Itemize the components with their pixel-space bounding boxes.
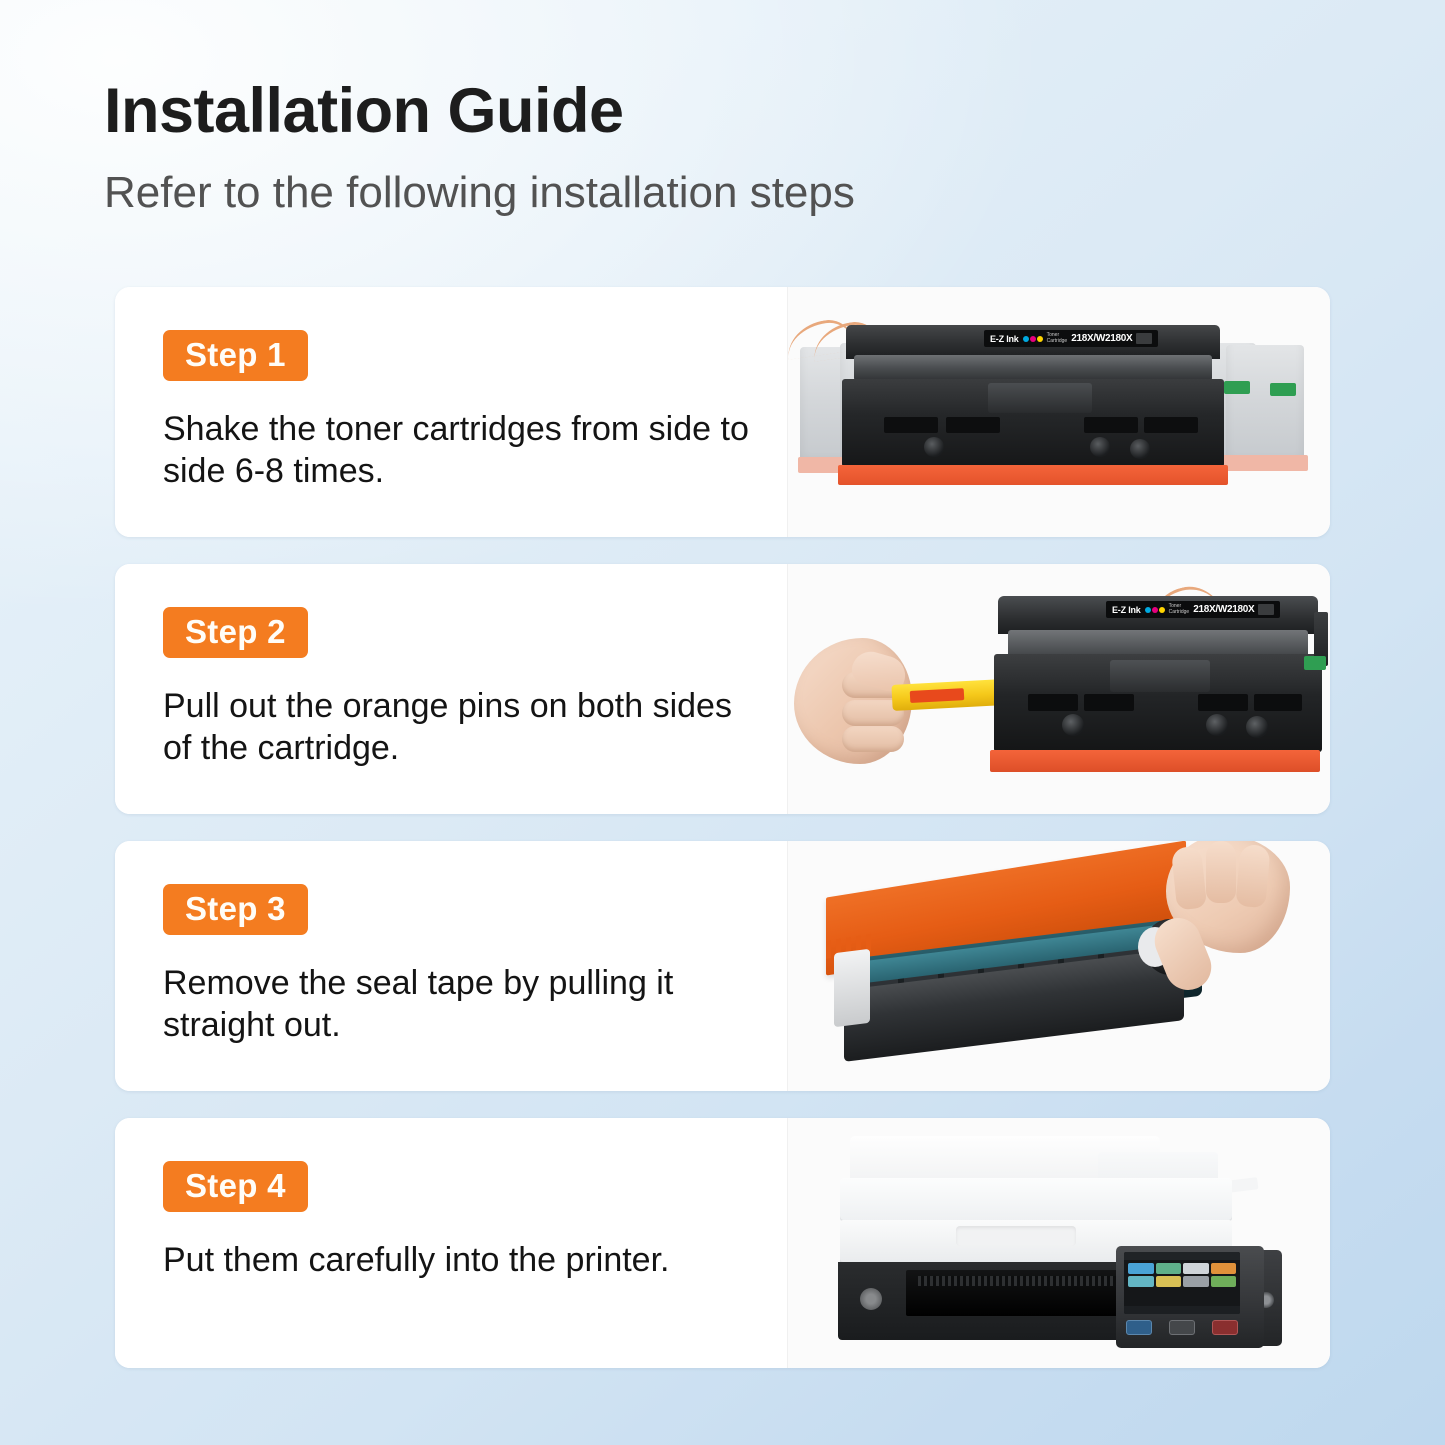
cartridge-orange-foot xyxy=(990,750,1320,772)
supplies-app-icon xyxy=(1211,1263,1237,1274)
printer-scanner-unit xyxy=(840,1178,1232,1222)
home-button-icon xyxy=(1126,1320,1152,1335)
step-4-badge: Step 4 xyxy=(163,1161,308,1212)
cartridge-slot xyxy=(1084,694,1134,711)
apps-app-icon xyxy=(1183,1276,1209,1287)
finger xyxy=(1235,844,1270,908)
finger xyxy=(842,726,904,752)
cartridge-chip-icon xyxy=(1136,333,1152,344)
printer-illustration xyxy=(798,1130,1328,1368)
printer-handle xyxy=(956,1226,1076,1246)
step-card-1: Step 1 Shake the toner cartridges from s… xyxy=(115,287,1330,537)
steps-list: Step 1 Shake the toner cartridges from s… xyxy=(115,287,1330,1368)
step-1-badge: Step 1 xyxy=(163,330,308,381)
page-header: Installation Guide Refer to the followin… xyxy=(104,78,855,217)
cartridge-brand-name: E-Z Ink xyxy=(1112,605,1141,615)
toner-cartridge-row-illustration: E-Z Ink Toner Cartridge 218X/W2180X xyxy=(787,307,1330,517)
cartridge-slot xyxy=(1084,417,1138,433)
step-2-badge: Step 2 xyxy=(163,607,308,658)
touchscreen-status-bar xyxy=(1124,1252,1240,1260)
touchscreen-app-grid xyxy=(1124,1260,1240,1290)
step-card-4: Step 4 Put them carefully into the print… xyxy=(115,1118,1330,1368)
help-button-icon xyxy=(1169,1320,1195,1335)
finger xyxy=(1206,841,1236,903)
setup-app-icon xyxy=(1156,1276,1182,1287)
cartridge-chip xyxy=(1270,383,1296,396)
cartridge-brand-label: E-Z Ink Toner Cartridge 218X/W2180X xyxy=(984,330,1158,347)
cartridge-handle-notch xyxy=(1110,660,1210,692)
page-title: Installation Guide xyxy=(104,78,855,144)
cartridge-slot xyxy=(1254,694,1302,711)
cartridge-brand-label: E-Z Ink Toner Cartridge 218X/W2180X xyxy=(1106,601,1280,618)
pull-pin-illustration: E-Z Ink Toner Cartridge 218X/W2180X xyxy=(788,582,1328,797)
step-4-text-area: Step 4 Put them carefully into the print… xyxy=(115,1118,787,1368)
cartridge-label-sub: Toner Cartridge xyxy=(1169,604,1190,615)
copy-app-icon xyxy=(1128,1263,1154,1274)
toner-cartridge: E-Z Ink Toner Cartridge 218X/W2180X xyxy=(984,590,1328,790)
step-card-2: Step 2 Pull out the orange pins on both … xyxy=(115,564,1330,814)
step-4-description: Put them carefully into the printer. xyxy=(163,1239,763,1281)
cartridge-label-sub-line2: Cartridge xyxy=(1169,609,1190,615)
cartridge-screw xyxy=(1062,714,1084,736)
cartridge-slot xyxy=(1198,694,1248,711)
cartridge-roller-bar xyxy=(854,355,1212,381)
cartridge-slot xyxy=(1144,417,1198,433)
step-2-image: E-Z Ink Toner Cartridge 218X/W2180X xyxy=(787,564,1330,814)
cartridge-label-sub-line2: Cartridge xyxy=(1047,338,1068,344)
cartridge-chip xyxy=(1304,656,1326,670)
cartridge-slot xyxy=(946,417,1000,433)
cartridge-left-end xyxy=(834,949,870,1027)
step-2-text-area: Step 2 Pull out the orange pins on both … xyxy=(115,564,787,814)
printer-touchscreen xyxy=(1124,1252,1240,1314)
cartridge-model-number: 218X/W2180X xyxy=(1071,333,1132,344)
scan-app-icon xyxy=(1183,1263,1209,1274)
touchscreen-bottom-bar xyxy=(1124,1306,1240,1314)
cmyk-dots-icon xyxy=(1145,607,1165,613)
step-4-image xyxy=(787,1118,1330,1368)
step-1-image: E-Z Ink Toner Cartridge 218X/W2180X xyxy=(787,287,1330,537)
cancel-button-icon xyxy=(1212,1320,1238,1335)
cartridge-screw xyxy=(924,437,944,457)
cartridge-slot xyxy=(1028,694,1078,711)
step-1-text-area: Step 1 Shake the toner cartridges from s… xyxy=(115,287,787,537)
cartridge-orange-foot xyxy=(838,465,1228,485)
printer-hardware-buttons xyxy=(1126,1320,1238,1335)
step-1-description: Shake the toner cartridges from side to … xyxy=(163,408,763,492)
cmyk-dots-icon xyxy=(1023,336,1043,342)
step-3-description: Remove the seal tape by pulling it strai… xyxy=(163,962,763,1046)
step-3-badge: Step 3 xyxy=(163,884,308,935)
cartridge-screw xyxy=(1206,714,1228,736)
page-subtitle: Refer to the following installation step… xyxy=(104,168,855,217)
cartridge-screw xyxy=(1130,439,1150,459)
step-3-text-area: Step 3 Remove the seal tape by pulling i… xyxy=(115,841,787,1091)
cartridge-handle-notch xyxy=(988,383,1092,413)
cartridge-brand-name: E-Z Ink xyxy=(990,334,1019,344)
cartridge-chip-icon xyxy=(1258,604,1274,615)
step-3-image xyxy=(787,841,1330,1091)
step-2-description: Pull out the orange pins on both sides o… xyxy=(163,685,763,769)
usb-app-icon xyxy=(1128,1276,1154,1287)
cartridge-screw xyxy=(1090,437,1110,457)
fax-app-icon xyxy=(1156,1263,1182,1274)
cartridge-model-number: 218X/W2180X xyxy=(1193,604,1254,615)
cartridge-screw xyxy=(1246,716,1268,738)
pin-red-stripe xyxy=(910,688,965,703)
printer-logo-icon xyxy=(860,1288,882,1310)
eco-app-icon xyxy=(1211,1276,1237,1287)
ghost-cartridge xyxy=(1226,345,1304,469)
hand-illustration xyxy=(1144,841,1294,995)
remove-seal-tape-illustration xyxy=(788,841,1328,1091)
printer-control-panel xyxy=(1116,1246,1264,1348)
cartridge-label-sub: Toner Cartridge xyxy=(1047,333,1068,344)
step-card-3: Step 3 Remove the seal tape by pulling i… xyxy=(115,841,1330,1091)
cartridge-slot xyxy=(884,417,938,433)
front-toner-cartridge: E-Z Ink Toner Cartridge 218X/W2180X xyxy=(838,325,1228,491)
